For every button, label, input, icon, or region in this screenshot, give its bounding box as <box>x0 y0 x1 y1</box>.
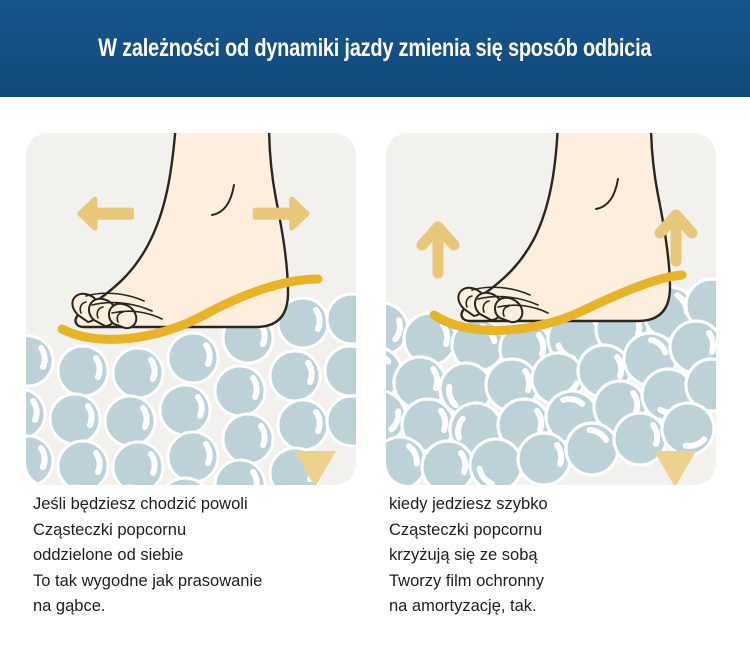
panel-fast-riding <box>386 133 716 485</box>
caption-area: Jeśli będziesz chodzić powoli Cząsteczki… <box>0 492 750 663</box>
slow-walking-illustration <box>26 133 356 485</box>
caption-slow-walking: Jeśli będziesz chodzić powoli Cząsteczki… <box>33 492 373 620</box>
page-title: W zależności od dynamiki jazdy zmienia s… <box>98 36 651 61</box>
illustration-panels <box>0 97 750 497</box>
fast-riding-illustration <box>386 133 716 485</box>
panel-slow-walking <box>26 133 356 485</box>
caption-fast-riding: kiedy jedziesz szybko Cząsteczki popcorn… <box>389 492 729 620</box>
header-bar: W zależności od dynamiki jazdy zmienia s… <box>0 0 750 97</box>
